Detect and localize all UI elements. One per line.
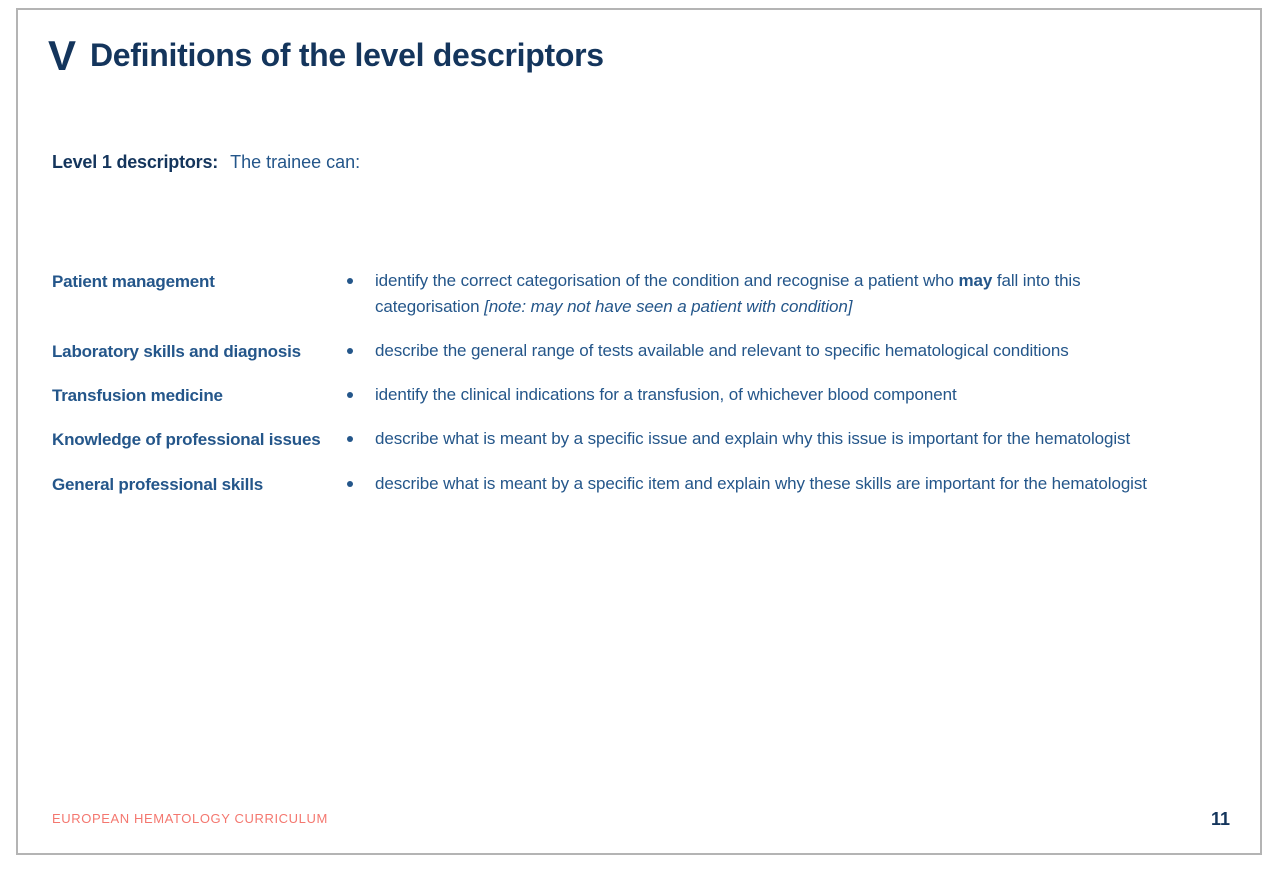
descriptor-bullet-text: describe what is meant by a specific iss… [375, 426, 1185, 452]
list-item: identify the correct categorisation of t… [347, 268, 1212, 321]
list-item: identify the clinical indications for a … [347, 382, 1212, 409]
bullet-dot-icon [347, 338, 375, 365]
descriptor-bullet-text: identify the correct categorisation of t… [375, 268, 1185, 321]
document-page: V Definitions of the level descriptors L… [16, 8, 1262, 855]
descriptor-bullet-list: describe what is meant by a specific iss… [347, 426, 1212, 453]
descriptor-table: Patient managementidentify the correct c… [52, 268, 1212, 498]
descriptor-row: Transfusion medicineidentify the clinica… [52, 382, 1212, 409]
descriptor-category-label: Patient management [52, 268, 347, 295]
bullet-dot-icon [347, 268, 375, 295]
descriptor-row: Patient managementidentify the correct c… [52, 268, 1212, 321]
page-number: 11 [1211, 809, 1230, 830]
bullet-dot-icon [347, 382, 375, 409]
descriptor-bullet-text: describe what is meant by a specific ite… [375, 471, 1185, 497]
bullet-dot-icon [347, 426, 375, 453]
descriptor-category-label: Knowledge of professional issues [52, 426, 347, 453]
list-item: describe what is meant by a specific iss… [347, 426, 1212, 453]
descriptor-bullet-text: describe the general range of tests avai… [375, 338, 1185, 364]
level-descriptor-label: Level 1 descriptors: [52, 152, 218, 172]
descriptor-row: General professional skillsdescribe what… [52, 471, 1212, 498]
page-title: Definitions of the level descriptors [90, 38, 604, 73]
page-header: V Definitions of the level descriptors [18, 26, 1260, 86]
descriptor-bullet-list: identify the correct categorisation of t… [347, 268, 1212, 321]
footer-curriculum-label: EUROPEAN HEMATOLOGY CURRICULUM [52, 811, 328, 826]
level-descriptor-text: The trainee can: [230, 152, 360, 172]
page-footer: EUROPEAN HEMATOLOGY CURRICULUM 11 [18, 811, 1260, 833]
descriptor-bullet-text: identify the clinical indications for a … [375, 382, 1185, 408]
descriptor-category-label: Transfusion medicine [52, 382, 347, 409]
descriptor-category-label: General professional skills [52, 471, 347, 498]
list-item: describe what is meant by a specific ite… [347, 471, 1212, 498]
section-number: V [18, 35, 90, 77]
bullet-dot-icon [347, 471, 375, 498]
descriptor-bullet-list: identify the clinical indications for a … [347, 382, 1212, 409]
descriptor-category-label: Laboratory skills and diagnosis [52, 338, 347, 365]
descriptor-bullet-list: describe the general range of tests avai… [347, 338, 1212, 365]
descriptor-row: Laboratory skills and diagnosisdescribe … [52, 338, 1212, 365]
descriptor-bullet-list: describe what is meant by a specific ite… [347, 471, 1212, 498]
descriptor-row: Knowledge of professional issuesdescribe… [52, 426, 1212, 453]
level-descriptor-intro: Level 1 descriptors:The trainee can: [52, 152, 360, 173]
list-item: describe the general range of tests avai… [347, 338, 1212, 365]
